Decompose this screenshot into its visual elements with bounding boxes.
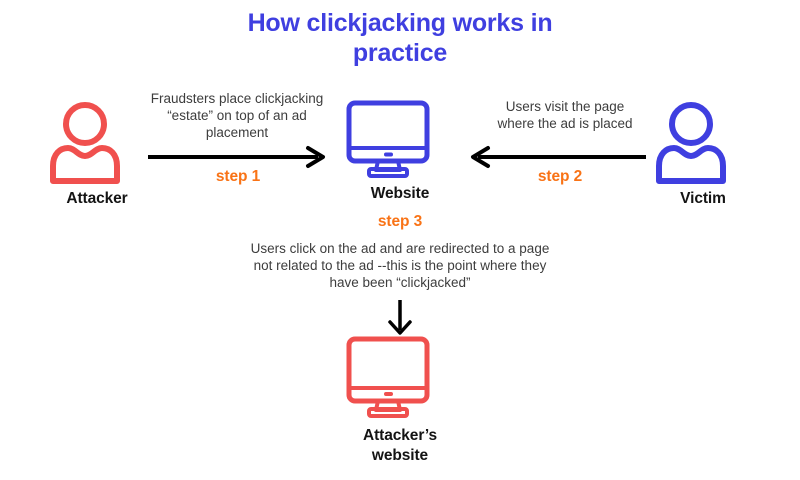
person-icon [648, 98, 758, 186]
step-1-caption: Fraudsters place clickjacking “estate” o… [132, 90, 342, 141]
step-3-caption-line-2: not related to the ad --this is the poin… [200, 257, 600, 274]
page-title: How clickjacking works in practice [200, 8, 600, 68]
step-2-label: step 2 [500, 168, 620, 186]
diagram-canvas: How clickjacking works in practice Attac… [0, 0, 800, 480]
step-2-caption: Users visit the page where the ad is pla… [475, 98, 655, 132]
step-3-caption-line-1: Users click on the ad and are redirected… [200, 240, 600, 257]
step-1-label: step 1 [178, 168, 298, 186]
node-attacker-website-label: Attacker’s website [336, 426, 464, 466]
step-3-label: step 3 [336, 213, 464, 231]
step-1-caption-line-1: Fraudsters place clickjacking [132, 90, 342, 107]
node-attacker-website-label-line-2: website [336, 446, 464, 466]
node-attacker-website: Attacker’s website [336, 336, 464, 466]
step-3-caption: Users click on the ad and are redirected… [200, 240, 600, 291]
step-2-caption-line-1: Users visit the page [475, 98, 655, 115]
step-3-caption-line-3: have been “clickjacked” [200, 274, 600, 291]
node-attacker-website-label-line-1: Attacker’s [336, 426, 464, 446]
step-2-caption-line-2: where the ad is placed [475, 115, 655, 132]
node-website: Website [336, 100, 464, 204]
step-3-arrow [386, 300, 414, 336]
monitor-icon [336, 336, 464, 420]
monitor-icon [336, 100, 464, 180]
step-1-caption-line-2: “estate” on top of an ad [132, 107, 342, 124]
step-1-arrow [148, 148, 328, 170]
node-victim-label: Victim [648, 190, 758, 208]
node-website-label: Website [336, 184, 464, 204]
step-1-caption-line-3: placement [132, 124, 342, 141]
step-2-arrow [468, 148, 648, 170]
node-victim: Victim [648, 98, 758, 208]
node-attacker-label: Attacker [42, 190, 152, 208]
